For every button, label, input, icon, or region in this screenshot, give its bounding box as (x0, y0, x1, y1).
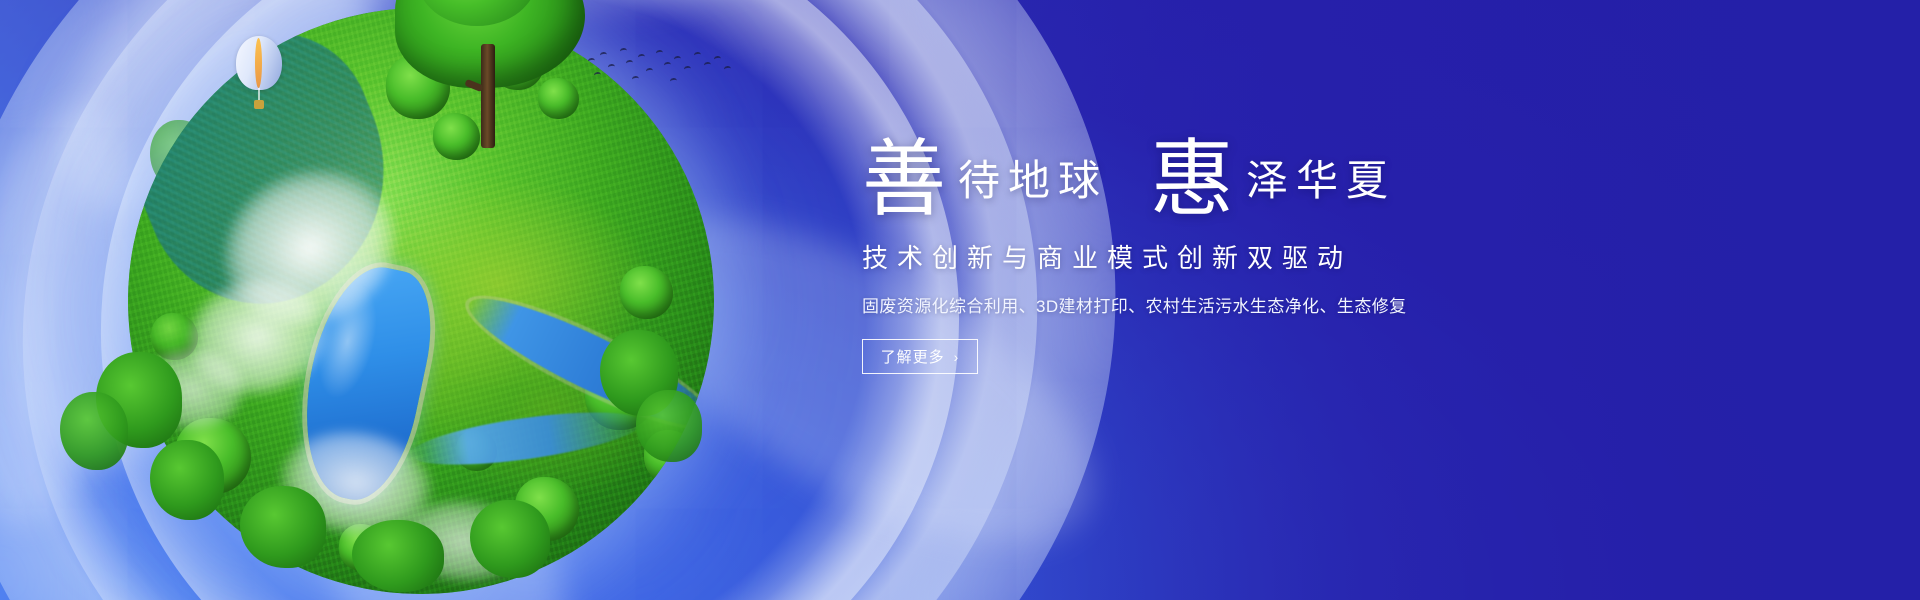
headline-char-1: 善 (862, 141, 946, 218)
bird-flock-icon (586, 42, 736, 92)
page-title: 善 待地球 惠 泽华夏 (862, 118, 1622, 214)
learn-more-button[interactable]: 了解更多 › (862, 339, 978, 374)
bird-icon (724, 66, 732, 73)
bird-icon (608, 64, 616, 71)
bird-icon (588, 58, 596, 65)
tree-trunk (481, 44, 495, 148)
bird-icon (638, 54, 646, 61)
chevron-right-icon: › (954, 349, 960, 365)
bird-icon (646, 68, 654, 75)
fringe-tree (240, 486, 326, 568)
planet-tree (620, 266, 673, 319)
large-tree-icon (395, 0, 585, 148)
bird-icon (600, 52, 608, 59)
fringe-tree (636, 390, 702, 462)
bird-icon (714, 56, 722, 63)
banner-subtitle: 技术创新与商业模式创新双驱动 (862, 238, 1622, 275)
learn-more-label: 了解更多 (881, 346, 945, 367)
bird-icon (626, 60, 634, 67)
headline-char-2: 惠 (1150, 141, 1234, 218)
balloon-basket (254, 100, 264, 109)
bird-icon (664, 62, 672, 69)
banner-description: 固废资源化综合利用、3D建材打印、农村生活污水生态净化、生态修复 (862, 292, 1622, 317)
bird-icon (594, 72, 602, 79)
headline-word-2: 泽华夏 (1234, 160, 1396, 202)
fringe-tree (150, 440, 224, 520)
bird-icon (670, 78, 678, 85)
hero-banner: 善 待地球 惠 泽华夏 技术创新与商业模式创新双驱动 固废资源化综合利用、3D建… (0, 0, 1920, 600)
bird-icon (656, 50, 664, 57)
bird-icon (694, 52, 702, 59)
fringe-tree (352, 520, 444, 592)
bird-icon (684, 66, 692, 73)
bird-icon (632, 76, 640, 83)
banner-content: 善 待地球 惠 泽华夏 技术创新与商业模式创新双驱动 固废资源化综合利用、3D建… (862, 118, 1622, 374)
headline-word-1: 待地球 (946, 160, 1108, 202)
hot-air-balloon-icon (236, 36, 282, 110)
bird-icon (704, 62, 712, 69)
bird-icon (674, 56, 682, 63)
fringe-tree (60, 392, 128, 470)
bird-icon (620, 48, 628, 55)
fringe-tree (470, 500, 550, 578)
balloon-stripe (255, 38, 262, 88)
